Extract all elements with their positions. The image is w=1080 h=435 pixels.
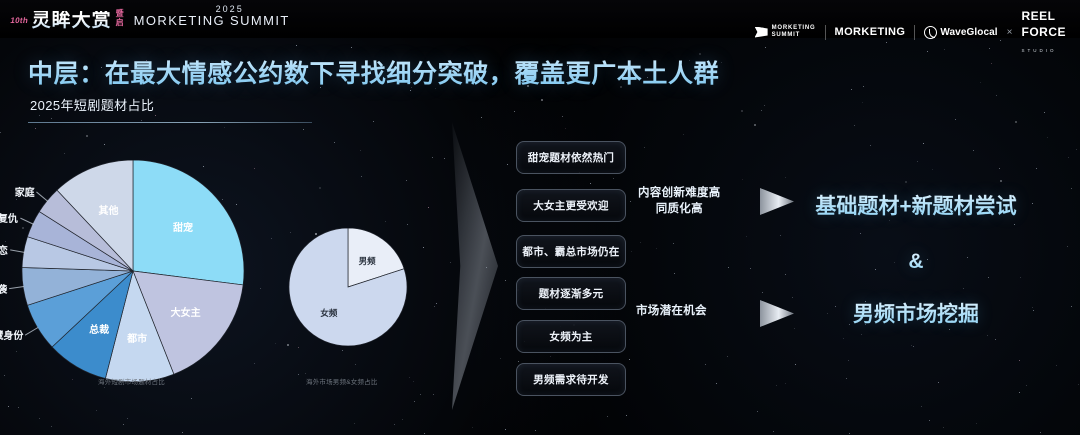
- logo-reel-line1: REEL: [1022, 9, 1056, 23]
- mid-note-top: 内容创新难度高 同质化高: [638, 186, 721, 217]
- pie-chart-genre-share: 甜宠大女主都市总裁隐藏身份逆袭虐恋复仇家庭其他: [18, 160, 248, 382]
- event-name-cn: 灵眸大赏: [32, 11, 112, 30]
- pie-gender-svg: [288, 228, 408, 346]
- pie-label-逆袭: 逆袭: [0, 281, 7, 296]
- fact-box-5[interactable]: 女频为主: [516, 320, 626, 353]
- logo-divider: [914, 25, 915, 40]
- logo-reelforce: REEL FORCE STUDIO: [1022, 8, 1067, 56]
- pie-label-家庭: 家庭: [15, 184, 35, 199]
- waveglocal-ring-icon: [924, 26, 937, 39]
- conclusion-top: 基础题材+新题材尝试: [806, 190, 1026, 220]
- logo-divider: [825, 25, 826, 40]
- mid-note-top-line2: 同质化高: [638, 202, 721, 218]
- pie-main-svg: [18, 160, 248, 382]
- logo-waveglocal-text: WaveGlocal: [940, 27, 997, 38]
- arrow-right-icon-top: [760, 188, 794, 215]
- fact-box-4[interactable]: 题材逐渐多元: [516, 277, 626, 310]
- pie-slice-甜宠: [133, 160, 244, 285]
- summit-wordmark: 2025 MORKETING SUMMIT: [134, 5, 290, 30]
- fact-box-1[interactable]: 甜宠题材依然热门: [516, 141, 626, 174]
- event-logo-left: 10th 灵眸大赏 暨启 2025 MORKETING SUMMIT: [10, 5, 290, 30]
- fact-box-2[interactable]: 大女主更受欢迎: [516, 189, 626, 222]
- logo-morketing-summit: MORKETING SUMMIT: [755, 25, 816, 40]
- fact-box-3[interactable]: 都市、霸总市场仍在: [516, 235, 626, 268]
- logo-morketing: MORKETING: [835, 26, 906, 38]
- logo-reel-line3: STUDIO: [1022, 48, 1057, 53]
- fact-box-6[interactable]: 男频需求待开发: [516, 363, 626, 396]
- logo-ms-line1: MORKETING: [772, 25, 816, 31]
- pie-label-复仇: 复仇: [0, 210, 18, 225]
- slide-header: 10th 灵眸大赏 暨启 2025 MORKETING SUMMIT MORKE…: [0, 0, 1080, 38]
- pie-label-隐藏身份: 隐藏身份: [0, 327, 23, 342]
- flag-icon: [755, 27, 768, 38]
- arrow-right-icon-bottom: [760, 300, 794, 327]
- logo-reel-line2: FORCE: [1022, 25, 1067, 39]
- subtitle-underline: [28, 122, 312, 123]
- conclusion-connector: &: [806, 250, 1026, 274]
- pie-chart-genre-caption: 海外短剧市场题材占比: [98, 376, 165, 386]
- pie-chart-gender-share: 男频女频: [288, 228, 408, 346]
- pie-chart-gender-caption: 海外市场男频&女频占比: [306, 376, 378, 386]
- pie-label-虐恋: 虐恋: [0, 242, 8, 257]
- logo-morketing-summit-text: MORKETING SUMMIT: [772, 25, 816, 40]
- zan-tag-badge: 暨启: [116, 10, 130, 30]
- chart-section-subtitle: 2025年短剧题材占比: [30, 95, 154, 114]
- logo-ms-line2: SUMMIT: [772, 32, 800, 38]
- tenth-anniversary-badge: 10th: [9, 16, 29, 30]
- cross-icon: ×: [1007, 27, 1013, 38]
- partner-logos: MORKETING SUMMIT MORKETING WaveGlocal × …: [755, 8, 1066, 56]
- logo-waveglocal: WaveGlocal: [924, 26, 997, 39]
- mid-note-top-line1: 内容创新难度高: [638, 186, 721, 202]
- mid-note-bottom: 市场潜在机会: [636, 304, 707, 320]
- chevron-divider-icon: [452, 122, 498, 410]
- summit-title: MORKETING SUMMIT: [134, 14, 290, 29]
- slide-canvas: 10th 灵眸大赏 暨启 2025 MORKETING SUMMIT MORKE…: [0, 0, 1080, 435]
- conclusion-bottom: 男频市场挖掘: [806, 298, 1026, 328]
- page-title: 中层：在最大情感公约数下寻找细分突破，覆盖更广本土人群: [28, 54, 719, 90]
